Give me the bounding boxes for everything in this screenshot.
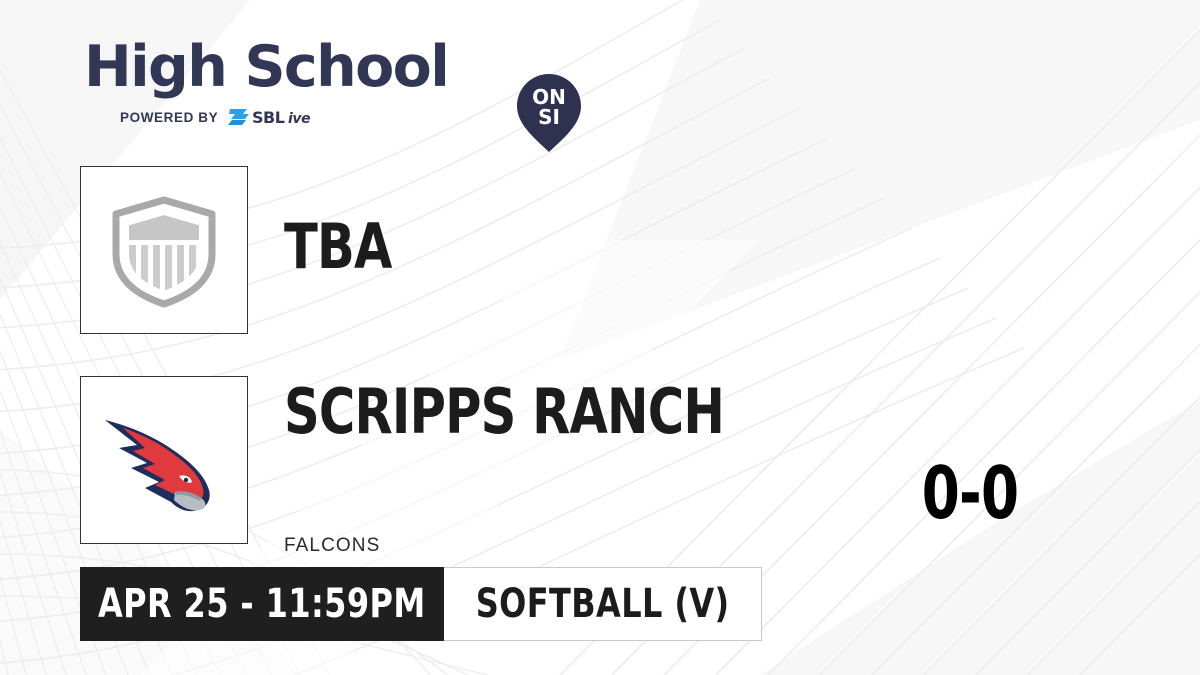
brand-wordmark: High School: [84, 36, 448, 98]
falcon-head-icon: [99, 400, 229, 520]
home-team-mascot: FALCONS: [284, 535, 834, 557]
away-team-row: TBA: [80, 166, 419, 334]
away-team-text: TBA: [284, 166, 419, 280]
on-si-pin-icon: ON SI: [516, 74, 582, 152]
sblive-wordmark: SBL: [252, 108, 285, 127]
home-team-text: SCRIPPS RANCH FALCONS: [284, 376, 834, 557]
home-team-name: SCRIPPS RANCH: [284, 379, 724, 445]
home-team-row: SCRIPPS RANCH FALCONS: [80, 376, 834, 557]
score-display: 0-0: [886, 450, 1053, 536]
sblive-logo: SBL ive: [227, 107, 321, 127]
game-sport-segment: SOFTBALL (V): [444, 567, 762, 641]
game-datetime-segment: APR 25 - 11:59PM: [80, 567, 444, 641]
home-team-logo-box[interactable]: [80, 376, 248, 544]
placeholder-shield-icon: [104, 190, 224, 310]
game-score-card: High School ON SI POWERED BY SBL ive: [0, 0, 1200, 675]
powered-by-row: POWERED BY SBL ive: [120, 106, 321, 128]
pin-label-si: SI: [538, 105, 560, 129]
away-team-name: TBA: [284, 214, 392, 280]
away-team-logo-box[interactable]: [80, 166, 248, 334]
sblive-wordmark-ive: ive: [288, 111, 310, 127]
powered-by-label: POWERED BY: [120, 110, 218, 125]
game-sport-label: SOFTBALL (V): [476, 581, 730, 627]
game-datetime-label: APR 25 - 11:59PM: [98, 581, 426, 627]
game-info-bar: APR 25 - 11:59PM SOFTBALL (V): [80, 567, 762, 641]
sblive-bolt-icon: [228, 109, 249, 125]
